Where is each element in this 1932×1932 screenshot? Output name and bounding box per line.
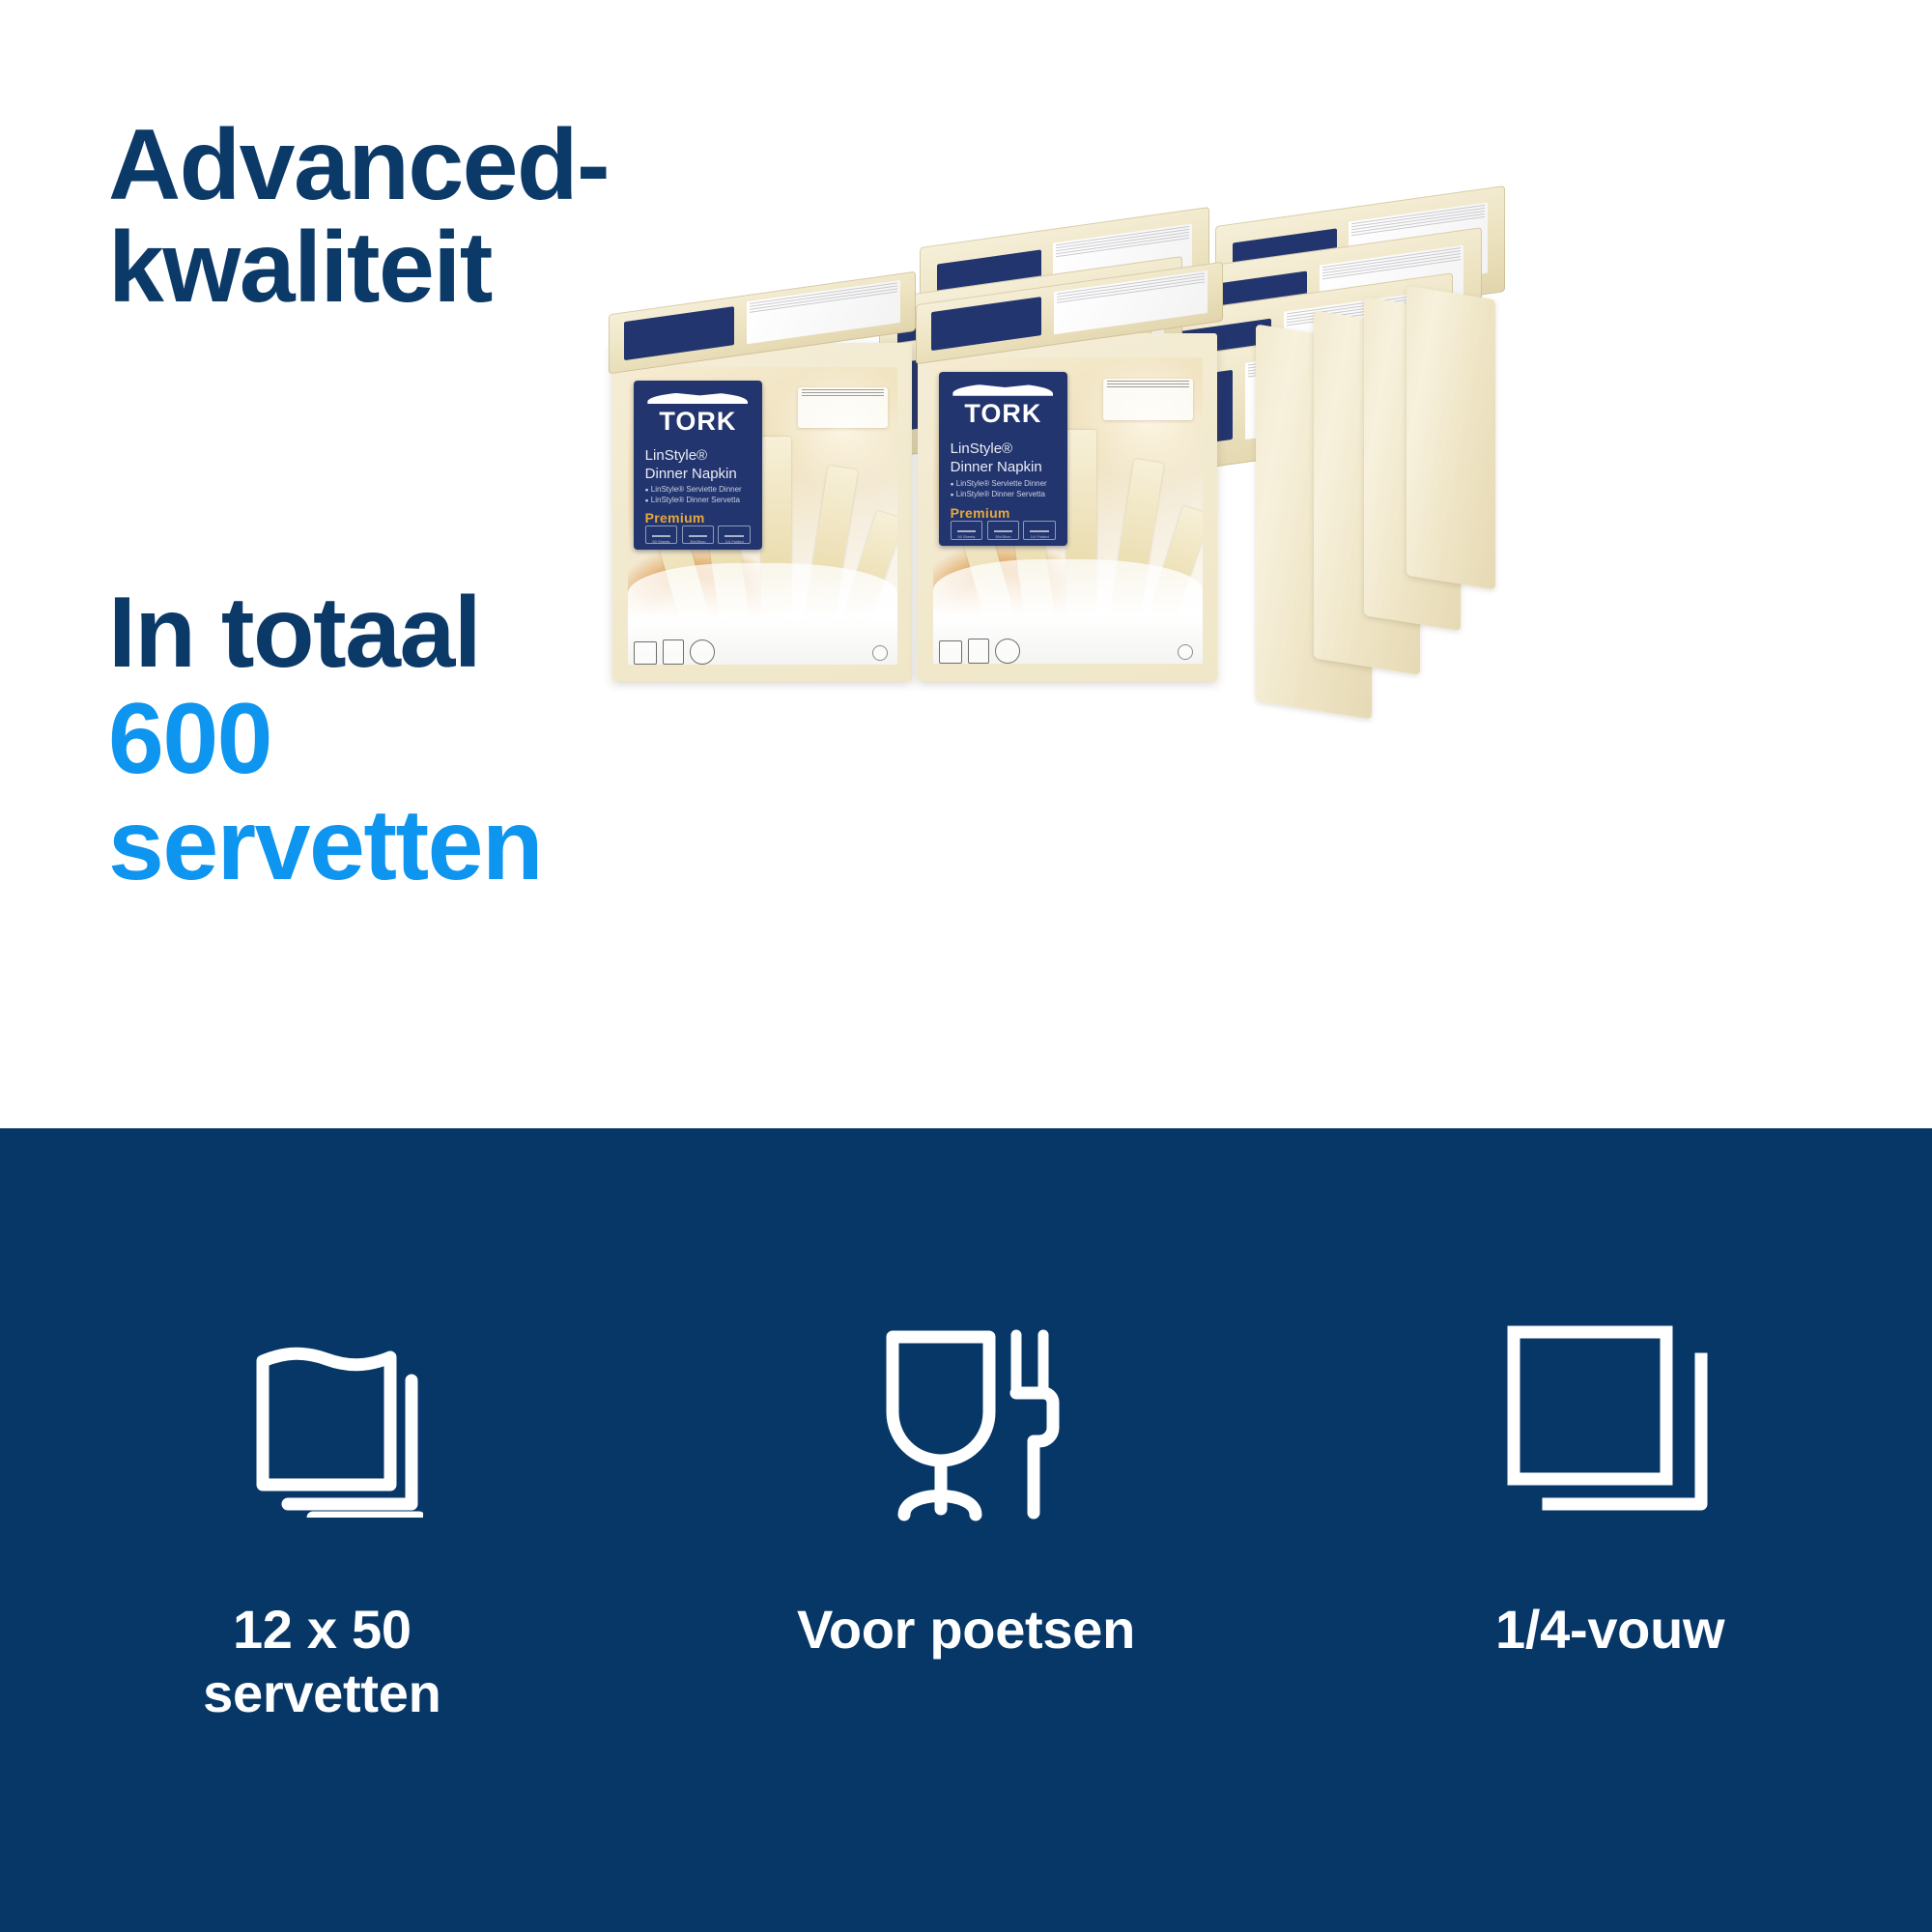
glass-and-fork-icon bbox=[860, 1300, 1072, 1542]
pack-top-leaflet bbox=[747, 280, 900, 344]
spec-chip: 50 Sheets bbox=[951, 521, 983, 540]
spec-chip: 1/4 Folded bbox=[1023, 521, 1056, 540]
pack-front-right: TORK LinStyle® Dinner Napkin LinStyle® S… bbox=[918, 333, 1217, 681]
brand-name: TORK bbox=[643, 409, 752, 435]
pack-front-left: TORK LinStyle® Dinner Napkin LinStyle® S… bbox=[612, 343, 912, 681]
certification-row bbox=[634, 634, 765, 665]
brand-name: TORK bbox=[949, 401, 1057, 427]
bottom-feature-panel: 12 x 50 servetten Voor bbox=[0, 1128, 1932, 1932]
ecolabel-icon bbox=[690, 639, 715, 665]
feature-caption-line-1: 1/4-vouw bbox=[1495, 1598, 1724, 1662]
spec-chip: 1/4 Folded bbox=[718, 526, 751, 544]
product-marketing-image: Advanced- kwaliteit In totaal 600 servet… bbox=[0, 0, 1932, 1932]
spec-chip: 39x39cm bbox=[987, 521, 1020, 540]
brand-label: TORK LinStyle® Dinner Napkin LinStyle® S… bbox=[939, 372, 1067, 546]
feature-item-fold: 1/4-vouw bbox=[1340, 1300, 1881, 1662]
certification-row bbox=[939, 633, 1070, 664]
feature-caption: Voor poetsen bbox=[797, 1598, 1135, 1662]
feature-caption-line-2: servetten bbox=[203, 1662, 440, 1725]
spec-chip: 39x39cm bbox=[682, 526, 715, 544]
soft-base-badge bbox=[1103, 379, 1193, 420]
feature-caption-line-1: 12 x 50 bbox=[203, 1598, 440, 1662]
feature-row: 12 x 50 servetten Voor bbox=[0, 1128, 1932, 1932]
product-name: Dinner Napkin bbox=[645, 467, 737, 483]
product-photo: TORK LinStyle® Dinner Napkin LinStyle® S… bbox=[580, 188, 1546, 739]
spec-chip-row: 50 Sheets 39x39cm 1/4 Folded bbox=[951, 521, 1056, 540]
product-bullet-1: LinStyle® Serviette Dinner bbox=[951, 479, 1047, 490]
soft-base-badge bbox=[798, 387, 888, 428]
feature-item-food-safe: Voor poetsen bbox=[696, 1300, 1236, 1662]
feature-item-quantity: 12 x 50 servetten bbox=[51, 1300, 592, 1725]
feature-caption: 12 x 50 servetten bbox=[203, 1598, 440, 1725]
tork-swoosh-icon bbox=[952, 384, 1053, 396]
spec-chip: 50 Sheets bbox=[645, 526, 678, 544]
recyclable-icon bbox=[634, 641, 657, 665]
feature-caption-line-1: Voor poetsen bbox=[797, 1598, 1135, 1662]
product-bullet-2: LinStyle® Dinner Servetta bbox=[645, 496, 742, 506]
product-line: LinStyle® bbox=[951, 441, 1012, 458]
ecolabel-icon bbox=[995, 639, 1020, 664]
pack-front-face: TORK LinStyle® Dinner Napkin LinStyle® S… bbox=[612, 343, 912, 681]
recyclable-icon bbox=[939, 640, 962, 664]
product-tier: Premium bbox=[951, 505, 1010, 521]
fsc-icon bbox=[663, 639, 684, 665]
product-line: LinStyle® bbox=[645, 448, 707, 465]
product-name: Dinner Napkin bbox=[951, 460, 1042, 476]
top-white-panel: Advanced- kwaliteit In totaal 600 servet… bbox=[0, 0, 1932, 1128]
product-bullet-2: LinStyle® Dinner Servetta bbox=[951, 490, 1047, 500]
subheadline-unit: servetten bbox=[108, 792, 871, 898]
feature-caption: 1/4-vouw bbox=[1495, 1598, 1724, 1662]
product-bullets: LinStyle® Serviette Dinner LinStyle® Din… bbox=[645, 485, 742, 506]
quarter-fold-icon bbox=[1506, 1300, 1714, 1542]
product-bullets: LinStyle® Serviette Dinner LinStyle® Din… bbox=[951, 479, 1047, 500]
pack-side-4 bbox=[1406, 286, 1495, 590]
pack-top-label bbox=[624, 306, 734, 360]
fsc-icon bbox=[968, 639, 989, 664]
pack-body bbox=[1406, 286, 1495, 590]
spec-chip-row: 50 Sheets 39x39cm 1/4 Folded bbox=[645, 526, 751, 544]
brand-label: TORK LinStyle® Dinner Napkin LinStyle® S… bbox=[634, 381, 762, 550]
stacked-napkins-icon bbox=[220, 1300, 423, 1542]
product-bullet-1: LinStyle® Serviette Dinner bbox=[645, 485, 742, 496]
pack-front-face: TORK LinStyle® Dinner Napkin LinStyle® S… bbox=[918, 333, 1217, 681]
product-tier: Premium bbox=[645, 510, 705, 526]
pack-top-label bbox=[931, 297, 1041, 351]
tork-swoosh-icon bbox=[647, 392, 748, 404]
